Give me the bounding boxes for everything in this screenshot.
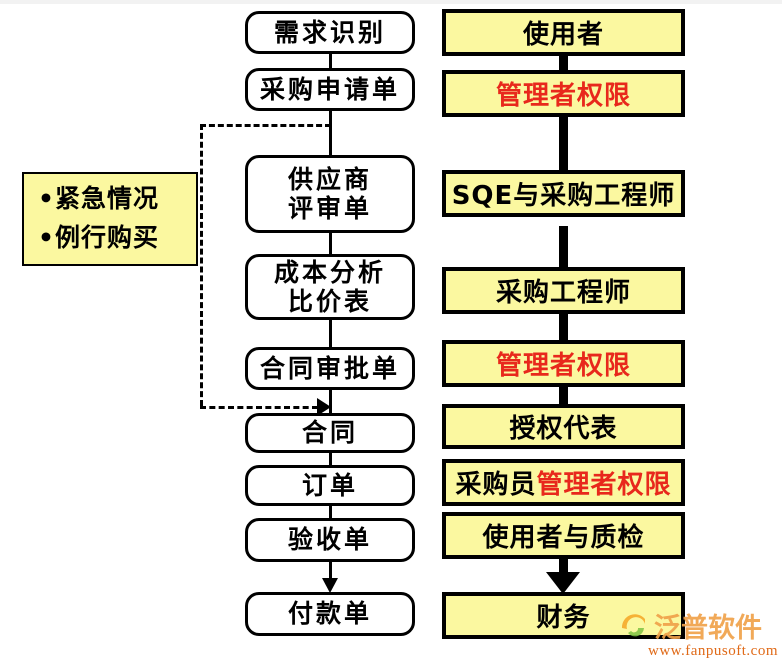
doc-label-line1: 采购申请单 <box>260 75 400 105</box>
arrowhead-role8-role9 <box>546 572 580 594</box>
connector-role4-role5 <box>559 314 568 340</box>
doc-label-line1: 合同 <box>302 418 358 448</box>
doc-label-line1: 付款单 <box>288 599 372 629</box>
role-label-segment-1: SQE与采购工程师 <box>452 175 676 212</box>
doc-box-payment[interactable]: 付款单 <box>245 592 415 636</box>
doc-label-line2: 评审单 <box>288 194 372 224</box>
doc-label-line1: 验收单 <box>288 525 372 555</box>
role-label-segment-1: 采购员 <box>455 464 536 501</box>
role-label-segment-1: 授权代表 <box>509 408 617 445</box>
doc-box-purchase-request[interactable]: 采购申请单 <box>245 68 415 111</box>
role-label-segment-1: 使用者与质检 <box>482 517 644 554</box>
role-box-buyer-manager-authority[interactable]: 采购员 管理者权限 <box>442 459 685 506</box>
role-box-purchasing-engineer[interactable]: 采购工程师 <box>442 267 685 314</box>
connector-role1-role2 <box>559 55 568 71</box>
dashed-loop-bottom-segment <box>200 406 318 409</box>
doc-label-line1: 订单 <box>302 471 358 501</box>
doc-box-supplier-review[interactable]: 供应商 评审单 <box>245 155 415 233</box>
role-label-segment-1: 财务 <box>536 597 590 634</box>
dashed-loop-vertical-segment <box>200 124 203 406</box>
role-box-finance[interactable]: 财务 <box>442 592 685 639</box>
role-label-segment-1: 管理者权限 <box>496 345 631 382</box>
arrowhead-doc8-doc9 <box>322 578 338 593</box>
role-box-user-and-qc[interactable]: 使用者与质检 <box>442 512 685 559</box>
dashed-loop-top-segment <box>200 124 331 127</box>
doc-box-cost-analysis[interactable]: 成本分析 比价表 <box>245 254 415 320</box>
doc-box-contract[interactable]: 合同 <box>245 413 415 453</box>
role-label-segment-1: 采购工程师 <box>496 272 631 309</box>
doc-box-contract-approval[interactable]: 合同审批单 <box>245 347 415 390</box>
role-label-segment-1: 管理者权限 <box>496 75 631 112</box>
connector-role5-role6 <box>559 387 568 405</box>
role-box-manager-authority-2[interactable]: 管理者权限 <box>442 340 685 387</box>
connector-role2-role3 <box>559 116 568 171</box>
role-box-user[interactable]: 使用者 <box>442 9 685 56</box>
role-box-authorized-representative[interactable]: 授权代表 <box>442 404 685 449</box>
connector-role3-role4 <box>559 226 568 267</box>
role-box-manager-authority-1[interactable]: 管理者权限 <box>442 70 685 117</box>
doc-label-line1: 供应商 <box>288 165 372 195</box>
doc-box-order[interactable]: 订单 <box>245 465 415 506</box>
top-edge-strip <box>0 0 782 4</box>
role-label-segment-2: 管理者权限 <box>537 464 672 501</box>
flowchart-canvas: •紧急情况 •例行购买 需求识别 采购申请单 供应商 评审单 成本分析 比价表 … <box>0 0 782 662</box>
note-box-conditions: •紧急情况 •例行购买 <box>22 172 198 266</box>
connector-doc3-doc4 <box>329 231 332 255</box>
doc-label-line1: 需求识别 <box>274 18 386 48</box>
doc-label-line2: 比价表 <box>288 287 372 317</box>
doc-label-line1: 合同审批单 <box>260 354 400 384</box>
connector-doc4-doc5 <box>329 318 332 348</box>
connector-doc7-doc8 <box>329 505 332 518</box>
connector-doc6-doc7 <box>329 452 332 466</box>
note-line-routine: •例行购买 <box>38 219 186 258</box>
doc-box-acceptance[interactable]: 验收单 <box>245 518 415 562</box>
watermark-url: www.fanpusoft.com <box>648 643 778 660</box>
connector-doc2-doc3 <box>329 110 332 158</box>
role-label-segment-1: 使用者 <box>523 14 604 51</box>
role-box-sqe-and-purchasing-engineer[interactable]: SQE与采购工程师 <box>442 170 685 217</box>
note-line-urgent: •紧急情况 <box>38 180 186 219</box>
doc-box-requirement-identification[interactable]: 需求识别 <box>245 11 415 54</box>
doc-label-line1: 成本分析 <box>274 258 386 288</box>
connector-doc1-doc2 <box>329 52 332 68</box>
